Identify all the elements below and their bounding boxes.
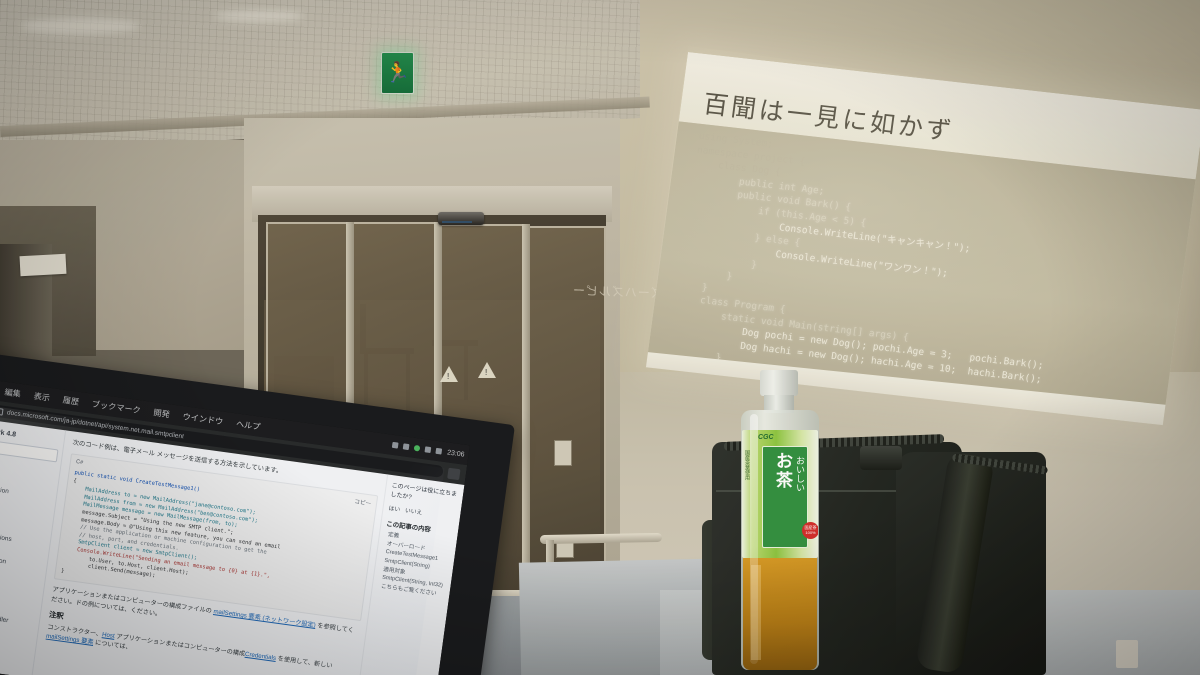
bottle-origin-badge: 国産茶 100% <box>802 522 818 539</box>
running-person-icon: 🏃 <box>385 63 410 83</box>
status-dot-icon[interactable] <box>414 445 421 452</box>
para2-link-credentials[interactable]: Credentials <box>245 651 277 662</box>
feedback-yes-button[interactable]: はい <box>388 503 401 513</box>
bottle-brand-logo: CGC <box>758 434 774 441</box>
bottle-cap <box>760 370 798 396</box>
menu-window[interactable]: ウインドウ <box>182 410 224 427</box>
copy-code-button[interactable]: コピー <box>354 497 372 507</box>
bottle-highlight <box>750 414 758 664</box>
mirrored-door-sign-text: ズーハズルピー <box>572 281 663 301</box>
menu-develop[interactable]: 開発 <box>153 406 171 420</box>
wall-notice-sign <box>20 254 67 276</box>
ceiling-light-2 <box>214 10 304 22</box>
wifi-icon[interactable] <box>403 443 410 450</box>
code-language-label: C# <box>75 459 83 468</box>
door-motion-sensor <box>438 212 484 225</box>
emergency-exit-sign: 🏃 <box>381 52 414 94</box>
cloud-icon[interactable] <box>392 442 399 449</box>
code-line: } <box>61 568 65 574</box>
volume-icon[interactable] <box>425 446 432 453</box>
tabs-button[interactable] <box>447 467 460 480</box>
menu-edit[interactable]: 編集 <box>4 386 22 400</box>
menu-view[interactable]: 表示 <box>33 390 51 404</box>
menu-bookmarks[interactable]: ブックマーク <box>91 398 141 417</box>
door-decal-sticker <box>554 440 572 466</box>
toc-list: 定義 オーバーロード CreateTestMessage1 SmtpClient… <box>377 531 453 600</box>
warning-triangle-icon-1 <box>440 366 458 382</box>
lock-icon <box>0 407 4 415</box>
menu-history[interactable]: 履歴 <box>62 394 80 408</box>
tea-bottle: CGC 国産茶葉使用 お茶 おいしい 国産茶 100% <box>738 370 822 670</box>
menubar-clock[interactable]: 23:06 <box>447 449 465 458</box>
ceiling-light-1 <box>20 18 140 34</box>
docs-article: 次のコード例は、電子メール メッセージを送信する方法を示しています。 C# コピ… <box>32 430 387 675</box>
para2-link-host[interactable]: Host <box>102 631 116 640</box>
feedback-no-button[interactable]: いいえ <box>405 505 423 516</box>
warning-triangle-icon-2 <box>478 362 496 378</box>
bottle-product-subname: おいしい <box>794 456 805 492</box>
photo-scene: 🏃 ズーハズルピー 百聞は一見に如かず using System; <box>0 0 1200 675</box>
bag-buckle <box>860 446 902 470</box>
wall-outlet <box>1116 640 1138 668</box>
menu-help[interactable]: ヘルプ <box>235 417 261 432</box>
door-mullion-3 <box>522 224 530 606</box>
projected-slide: 百聞は一見に如かず using System; namespace projec… <box>646 52 1200 425</box>
para1-tail: ください。 <box>130 606 162 617</box>
code-line: { <box>73 477 77 483</box>
battery-icon[interactable] <box>436 448 443 455</box>
